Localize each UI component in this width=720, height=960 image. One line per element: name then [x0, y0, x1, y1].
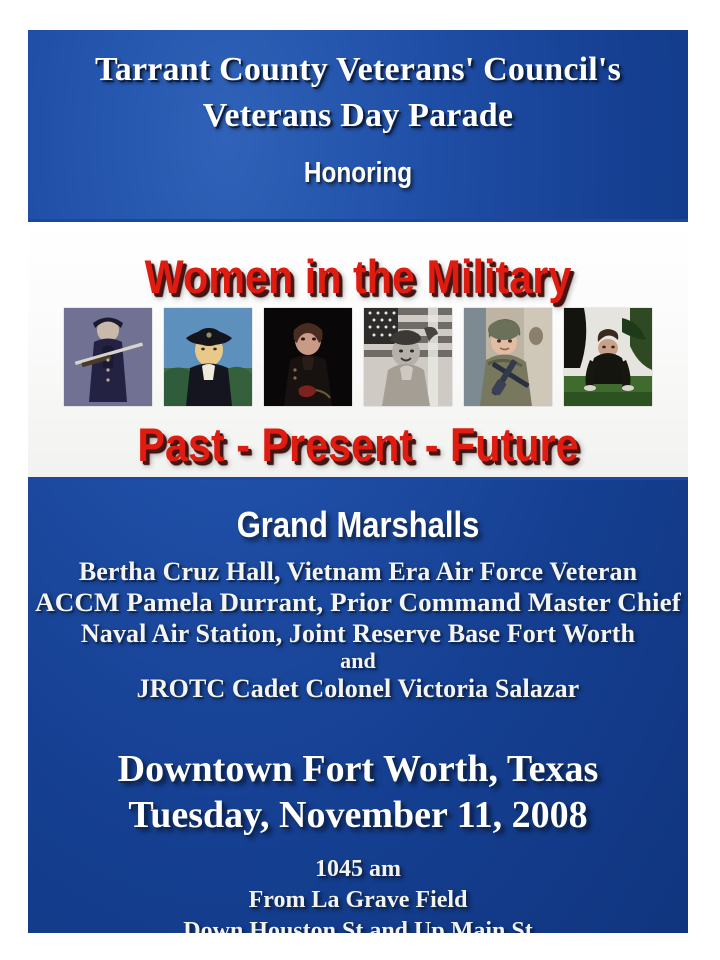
event-start-point: From La Grave Field	[28, 885, 688, 916]
parade-poster: Tarrant County Veterans' Council's Veter…	[28, 30, 688, 933]
event-time: 1045 am	[28, 854, 688, 885]
headline-women-in-the-military: Women in the Military	[68, 250, 649, 304]
poster-header: Tarrant County Veterans' Council's Veter…	[28, 30, 688, 219]
honoring-label: Honoring	[81, 156, 635, 190]
page-title-line-1: Tarrant County Veterans' Council's	[28, 50, 688, 90]
poster-body: Grand Marshalls Bertha Cruz Hall, Vietna…	[28, 480, 688, 933]
event-route: Down Houston St and Up Main St	[28, 916, 688, 933]
photo-strip	[28, 303, 688, 411]
civil-war-soldier-photo	[64, 308, 152, 406]
grand-marshall-name: JROTC Cadet Colonel Victoria Salazar	[28, 673, 688, 704]
wwii-officer-portrait-photo	[264, 308, 352, 406]
event-venue: Downtown Fort Worth, Texas Tuesday, Nove…	[28, 746, 688, 838]
grand-marshall-name: Naval Air Station, Joint Reserve Base Fo…	[28, 618, 688, 649]
feature-band: Women in the Military	[28, 219, 688, 480]
cadet-pushup-photo	[564, 308, 652, 406]
revolutionary-portrait-photo	[164, 308, 252, 406]
grand-marshall-name: ACCM Pamela Durrant, Prior Command Maste…	[28, 587, 688, 618]
page-title-line-2: Veterans Day Parade	[28, 96, 688, 136]
wwii-flag-photo	[364, 308, 452, 406]
grand-marshalls-heading: Grand Marshalls	[74, 504, 642, 546]
grand-marshall-conjunction: and	[28, 649, 688, 673]
modern-soldier-photo	[464, 308, 552, 406]
grand-marshall-name: Bertha Cruz Hall, Vietnam Era Air Force …	[28, 556, 688, 587]
tagline-past-present-future: Past - Present - Future	[68, 418, 649, 472]
grand-marshalls-list: Bertha Cruz Hall, Vietnam Era Air Force …	[28, 556, 688, 704]
event-date: Tuesday, November 11, 2008	[28, 792, 688, 838]
event-details: 1045 am From La Grave Field Down Houston…	[28, 854, 688, 933]
event-location: Downtown Fort Worth, Texas	[28, 746, 688, 792]
